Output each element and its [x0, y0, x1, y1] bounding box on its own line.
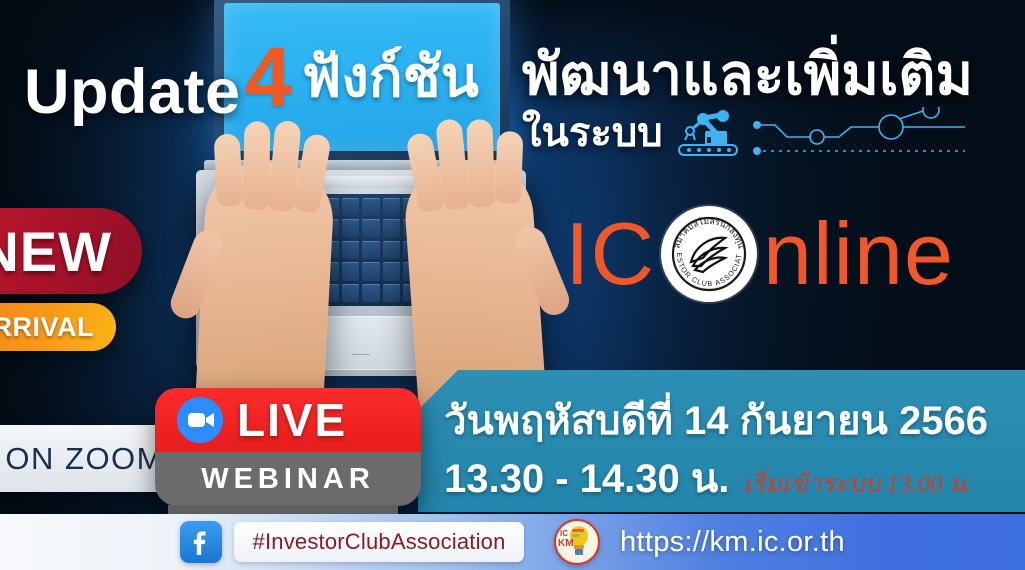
live-badge-top: LIVE — [155, 388, 421, 452]
screen-number: 4 — [245, 41, 290, 113]
brand-suffix: nline — [763, 210, 954, 298]
ic-online-logo: IC สมาคมสโมสรนักลงทุน INVESTOR CLUB ASSO… — [565, 206, 954, 302]
screen-thai-label: ฟังก์ชัน — [302, 49, 479, 105]
new-badge: NEW — [0, 208, 142, 294]
footer-gray-tab — [168, 505, 398, 514]
headline-line-1: พัฒนาและเพิ่มเติม — [522, 46, 1017, 105]
live-label: LIVE — [237, 393, 347, 447]
webinar-label: WEBINAR — [201, 463, 375, 496]
svg-text:IC: IC — [560, 529, 568, 538]
km-url-label[interactable]: https://km.ic.or.th — [620, 526, 845, 559]
footer-bar: #InvestorClubAssociation IC KM https://k… — [0, 514, 1025, 570]
robot-arm-icon — [675, 107, 965, 159]
arrival-badge: ARRIVAL — [0, 303, 116, 351]
new-badge-label: NEW — [0, 219, 112, 284]
video-camera-icon — [177, 397, 223, 443]
facebook-icon[interactable] — [180, 521, 222, 563]
on-zoom-label: ON ZOOM — [5, 441, 164, 477]
on-zoom-panel: ON ZOOM — [0, 425, 180, 492]
main-headline-block: พัฒนาและเพิ่มเติม ในระบบ — [522, 46, 1017, 159]
event-date: วันพฤหัสบดีที่ 14 กันยายน 2566 — [444, 388, 988, 452]
event-note: เริ่มเข้าระบบ 13.00 น. — [743, 464, 972, 504]
live-badge-bottom: WEBINAR — [155, 452, 421, 506]
webinar-poster: 4 ฟังก์ชัน — [0, 0, 1025, 570]
update-headline: Update — [24, 56, 241, 128]
svg-text:KM: KM — [558, 538, 574, 549]
event-time: 13.30 - 14.30 น. — [444, 446, 729, 510]
hashtag-chip[interactable]: #InvestorClubAssociation — [234, 522, 524, 562]
brand-prefix: IC — [565, 210, 655, 298]
arrival-badge-label: ARRIVAL — [0, 312, 94, 343]
event-details-panel: วันพฤหัสบดีที่ 14 กันยายน 2566 13.30 - 1… — [418, 370, 1025, 512]
live-webinar-badge: LIVE WEBINAR — [155, 388, 421, 506]
investor-club-association-logo: สมาคมสโมสรนักลงทุน INVESTOR CLUB ASSOCIA… — [661, 206, 757, 302]
headline-line-2: ในระบบ — [522, 113, 663, 153]
ic-km-lightbulb-icon[interactable]: IC KM — [554, 519, 600, 565]
hashtag-label: #InvestorClubAssociation — [253, 529, 506, 555]
